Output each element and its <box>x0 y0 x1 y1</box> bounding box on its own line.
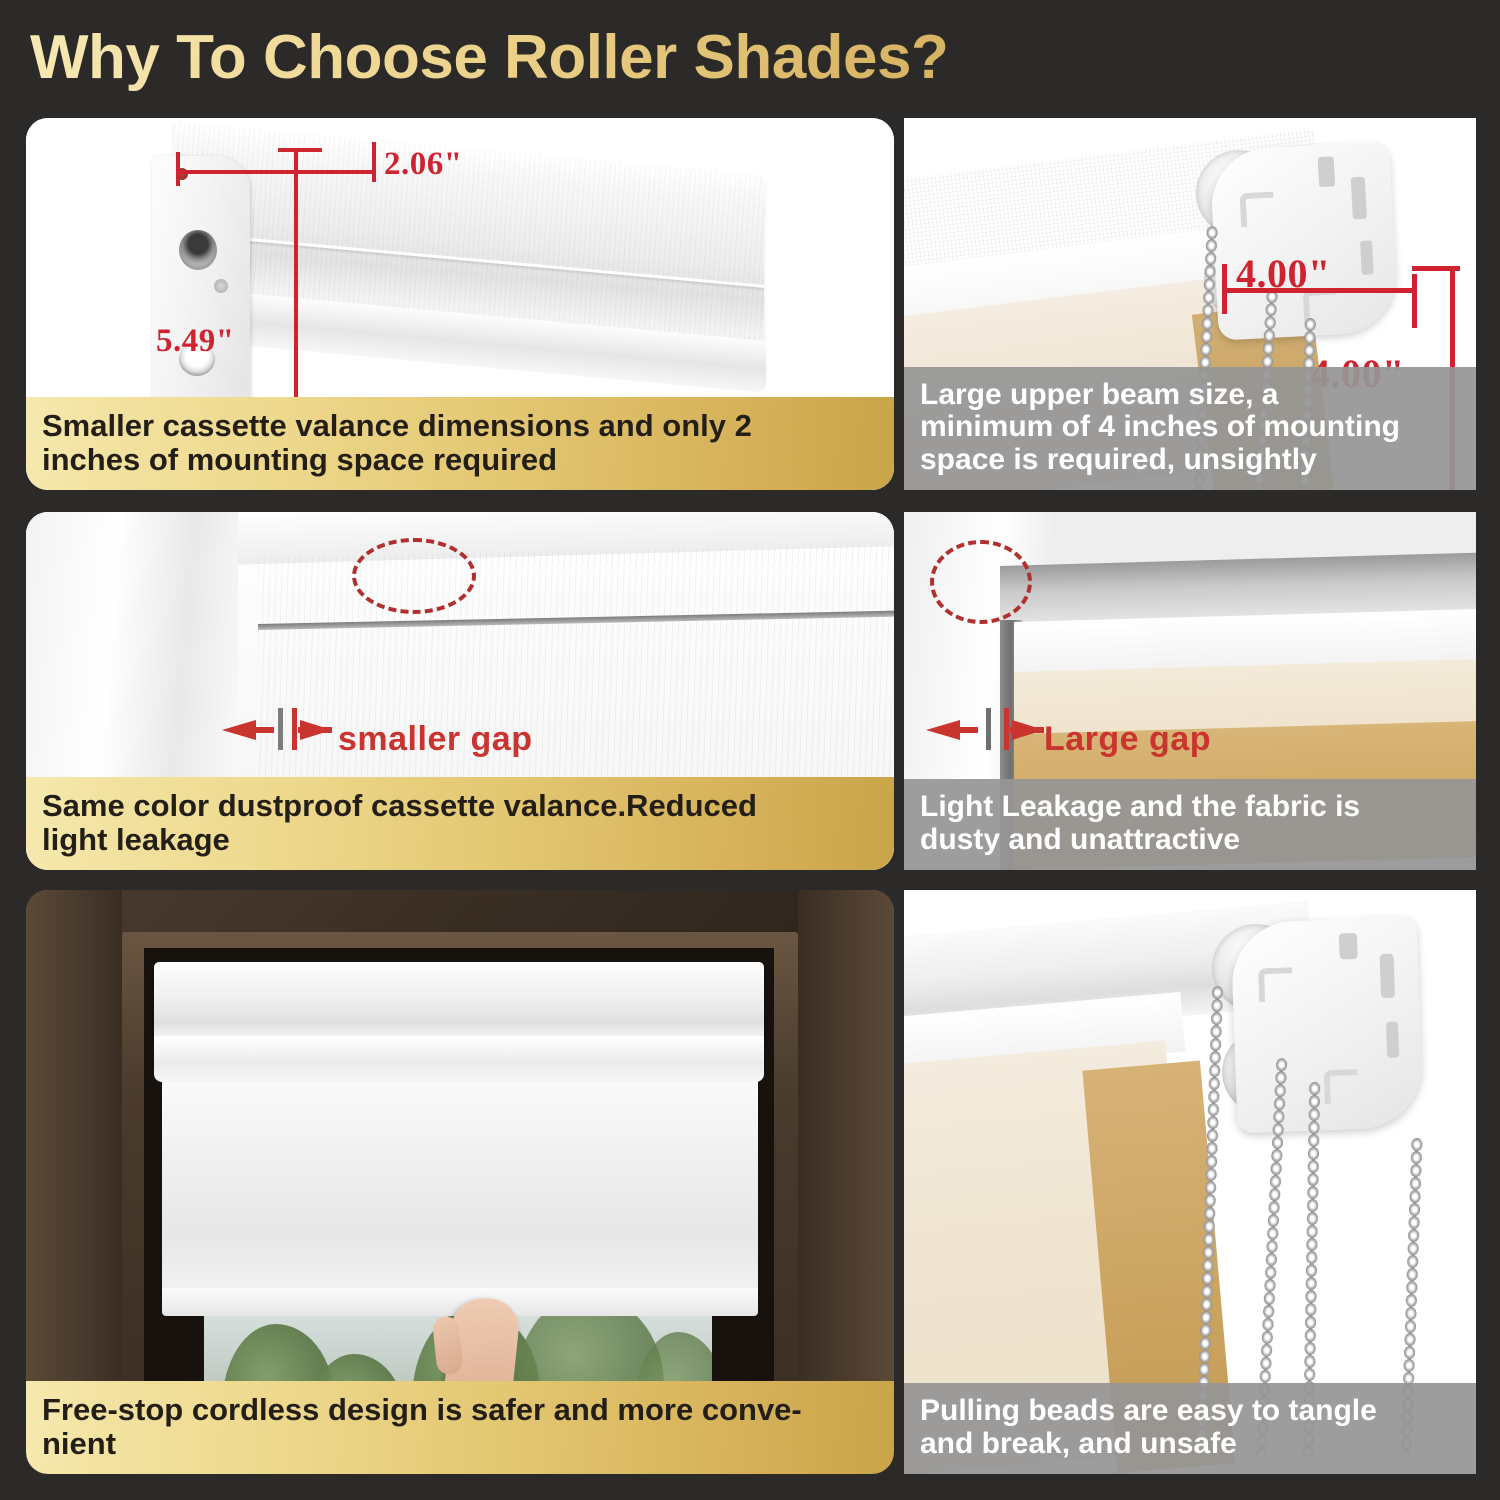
roller-shade-fabric <box>162 1080 758 1302</box>
gap-arrows-icon <box>926 708 1126 752</box>
dim-2-06-tick-right <box>372 142 376 182</box>
dim-2-06-line <box>178 170 376 174</box>
gap-highlight-ellipse <box>930 540 1032 624</box>
panel-1-caption: Smaller cassette valance dimensions and … <box>26 397 894 490</box>
panel-large-beam: 4.00" 4.00" Large upper beam size, a min… <box>904 118 1476 490</box>
infographic-page: Why To Choose Roller Shades? <box>0 0 1500 1500</box>
caption-line: and break, and unsafe <box>920 1428 1460 1460</box>
caption-line: Same color dustproof cassette valance.Re… <box>42 789 878 822</box>
caption-line: Smaller cassette valance dimensions and … <box>42 409 878 442</box>
caption-line: Free-stop cordless design is safer and m… <box>42 1393 878 1426</box>
dim-2-06-label: 2.06" <box>384 146 463 183</box>
caption-line: nient <box>42 1427 878 1460</box>
panel-6-caption: Pulling beads are easy to tangle and bre… <box>904 1383 1476 1474</box>
panel-3-caption: Same color dustproof cassette valance.Re… <box>26 777 894 870</box>
mechanism-knob-icon <box>179 230 217 270</box>
dim-5-49-label: 5.49" <box>156 323 235 360</box>
panel-smaller-cassette: 2.06" 5.49" Smaller cassette valance dim… <box>26 118 894 490</box>
caption-line: Pulling beads are easy to tangle <box>920 1395 1460 1427</box>
panel-small-gap: smaller gap Same color dustproof cassett… <box>26 512 894 870</box>
dim-5-49-tick-top <box>278 148 322 152</box>
dim-width-tick-right <box>1412 274 1417 328</box>
dim-width-label: 4.00" <box>1236 250 1331 297</box>
comparison-grid: 2.06" 5.49" Smaller cassette valance dim… <box>0 0 1500 1500</box>
caption-line: Large upper beam size, a <box>920 379 1460 411</box>
mounting-bracket <box>1230 917 1423 1133</box>
panel-pulling-beads: Pulling beads are easy to tangle and bre… <box>904 890 1476 1474</box>
bracket-hook-glyph-icon <box>1324 1069 1359 1104</box>
cassette-valance <box>154 962 764 1040</box>
gap-highlight-ellipse <box>352 538 476 614</box>
caption-line: light leakage <box>42 823 878 856</box>
dim-height-tick-top <box>1412 266 1460 271</box>
caption-line: inches of mounting space required <box>42 443 878 476</box>
panel-cordless-design: Free-stop cordless design is safer and m… <box>26 890 894 1474</box>
panel-5-caption: Free-stop cordless design is safer and m… <box>26 1381 894 1474</box>
caption-line: Light Leakage and the fabric is <box>920 791 1460 823</box>
dim-2-06-tick-left <box>176 152 180 186</box>
dim-width-tick-left <box>1222 264 1227 314</box>
gap-arrows-icon <box>222 708 462 752</box>
bracket-hook-glyph-icon <box>1258 967 1293 1002</box>
caption-line: minimum of 4 inches of mounting <box>920 411 1460 443</box>
caption-line: dusty and unattractive <box>920 824 1460 856</box>
panel-large-gap: Large gap Light Leakage and the fabric i… <box>904 512 1476 870</box>
large-mounting-bracket <box>1209 141 1399 340</box>
caption-line: space is required, unsightly <box>920 444 1460 476</box>
bracket-hook-glyph-icon <box>1239 192 1275 228</box>
panel-2-caption: Large upper beam size, a minimum of 4 in… <box>904 367 1476 490</box>
panel-4-caption: Light Leakage and the fabric is dusty an… <box>904 779 1476 870</box>
valance-lip <box>154 1036 764 1082</box>
cassette-end-cap <box>152 156 250 410</box>
